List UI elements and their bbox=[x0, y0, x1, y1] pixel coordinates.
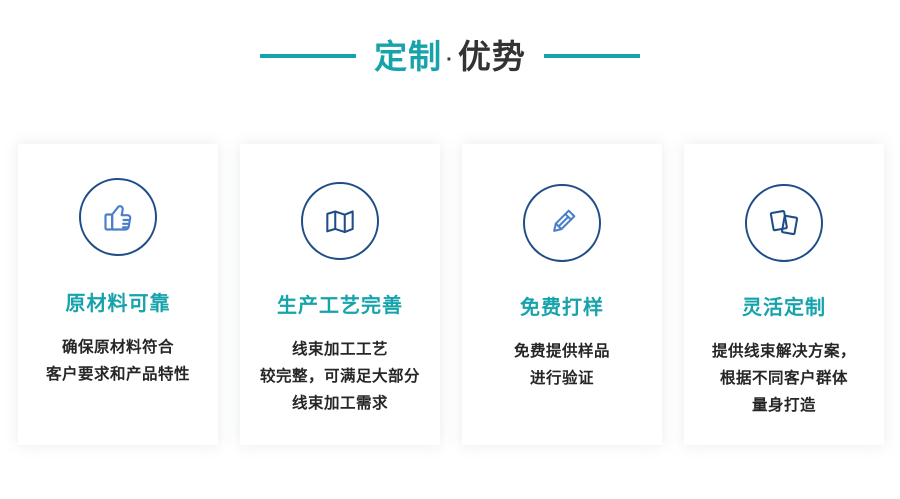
pencil-icon bbox=[523, 184, 601, 262]
card-title: 免费打样 bbox=[470, 296, 654, 320]
card-description: 线束加工工艺 较完整，可满足大部分 线束加工需求 bbox=[248, 336, 432, 417]
card-description-line: 客户要求和产品特性 bbox=[26, 361, 210, 388]
section-heading: 定制 · 优势 bbox=[0, 30, 900, 82]
heading-rule-left bbox=[260, 54, 356, 58]
card-description-line: 线束加工工艺 bbox=[248, 336, 432, 363]
heading-rule-right bbox=[544, 54, 640, 58]
card-description-line: 根据不同客户群体 bbox=[692, 365, 876, 392]
thumbs-up-icon bbox=[79, 178, 157, 256]
card-title: 生产工艺完善 bbox=[248, 294, 432, 318]
advantage-card[interactable]: 免费打样 免费提供样品 进行验证 bbox=[462, 144, 662, 445]
card-description-line: 线束加工需求 bbox=[248, 390, 432, 417]
card-title: 灵活定制 bbox=[692, 296, 876, 320]
card-description-line: 免费提供样品 bbox=[470, 338, 654, 365]
advantage-card[interactable]: 生产工艺完善 线束加工工艺 较完整，可满足大部分 线束加工需求 bbox=[240, 144, 440, 445]
card-description: 确保原材料符合 客户要求和产品特性 bbox=[26, 334, 210, 388]
card-title: 原材料可靠 bbox=[26, 292, 210, 316]
card-description: 免费提供样品 进行验证 bbox=[470, 338, 654, 392]
advantage-card[interactable]: 灵活定制 提供线束解决方案， 根据不同客户群体 量身打造 bbox=[684, 144, 884, 445]
card-description-line: 量身打造 bbox=[692, 392, 876, 419]
advantage-card[interactable]: 原材料可靠 确保原材料符合 客户要求和产品特性 bbox=[18, 144, 218, 445]
heading-accent-text: 定制 bbox=[374, 40, 442, 73]
stacked-cards-icon bbox=[745, 184, 823, 262]
heading-main-text: 优势 bbox=[458, 40, 526, 73]
card-description-line: 进行验证 bbox=[470, 365, 654, 392]
card-description-line: 较完整，可满足大部分 bbox=[248, 363, 432, 390]
folded-map-icon bbox=[301, 182, 379, 260]
advantage-card-list: 原材料可靠 确保原材料符合 客户要求和产品特性 生产工艺完善 线束加工工艺 较完… bbox=[18, 144, 884, 445]
card-description: 提供线束解决方案， 根据不同客户群体 量身打造 bbox=[692, 338, 876, 419]
heading-separator-dot: · bbox=[442, 50, 458, 70]
card-description-line: 确保原材料符合 bbox=[26, 334, 210, 361]
page-title: 定制 · 优势 bbox=[374, 40, 526, 73]
card-description-line: 提供线束解决方案， bbox=[692, 338, 876, 365]
